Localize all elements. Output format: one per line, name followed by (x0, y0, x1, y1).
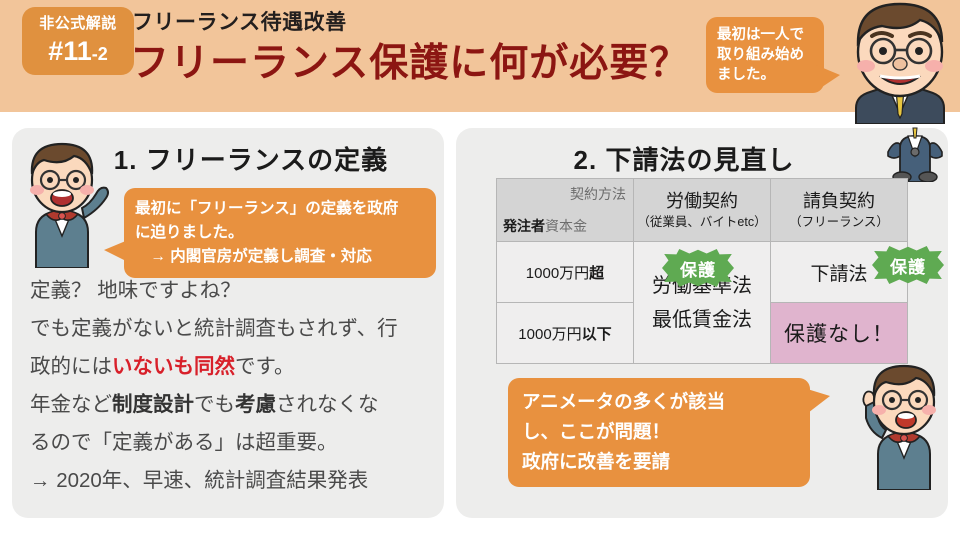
corner-label-top: 契約方法 (570, 184, 626, 204)
left-bubble-line-3: → 内閣官房が定義し調査・対応 (135, 245, 426, 269)
row-label-bold: 以下 (582, 326, 612, 343)
episode-badge-subtitle: 非公式解説 (22, 7, 134, 36)
presenter-face-icon (836, 0, 960, 124)
table-header-row: 契約方法 発注者資本金 労働契約 （従業員、バイトetc） 請負契約 （フリーラ… (497, 179, 908, 242)
corner-label-bottom: 発注者資本金 (503, 216, 587, 236)
row-label-over: 1000万円超 (497, 242, 634, 303)
header-bubble-line-2: 取り組み始め (717, 45, 814, 65)
body-line-4-bold-1: 制度設計 (112, 393, 194, 416)
left-panel-body: 定義？ 地味ですよね？ でも定義がないと統計調査もされず、行 政的にはいないも同… (30, 272, 430, 500)
body-line-4: 年金など制度設計でも考慮されなくな (30, 386, 430, 424)
table-col-header-contract: 請負契約 （フリーランス） (771, 179, 908, 242)
episode-number-main: #11 (48, 36, 92, 66)
row-label-bold: 超 (589, 265, 604, 282)
body-line-4-mid: でも (194, 393, 235, 416)
header-speech-bubble: 最初は一人で 取り組み始め ました。 (706, 17, 824, 93)
body-line-4-pre: 年金など (30, 393, 112, 416)
table-corner-cell: 契約方法 発注者資本金 (497, 179, 634, 242)
labor-law-line-2: 最低賃金法 (634, 303, 770, 337)
body-line-1: 定義？ 地味ですよね？ (30, 272, 430, 310)
table-col-header-employment: 労働契約 （従業員、バイトetc） (634, 179, 771, 242)
col-header-main: 労働契約 (634, 189, 770, 213)
protection-badge-2: 保護 (872, 246, 944, 284)
page-title: フリーランス保護に何が必要？ (130, 32, 689, 88)
presenter-small-icon (884, 122, 946, 182)
right-bubble-line-2: し、ここが問題！ (522, 417, 798, 447)
row-label-text: 1000万円 (518, 326, 581, 343)
cell-no-protection: 保護なし！ (771, 303, 908, 364)
header-band: 非公式解説 #11-2 フリーランス待遇改善 フリーランス保護に何が必要？ 最初… (0, 0, 960, 112)
header-bubble-line-1: 最初は一人で (717, 25, 814, 45)
body-line-4-post: されなくな (276, 393, 379, 416)
body-line-3-pre: 政的には (30, 355, 112, 378)
body-line-2: でも定義がないと統計調査もされず、行 (30, 310, 430, 348)
col-header-sub: （フリーランス） (771, 213, 907, 231)
col-header-main: 請負契約 (771, 189, 907, 213)
body-line-5: るので「定義がある」は超重要。 (30, 424, 430, 462)
right-speech-bubble: アニメータの多くが該当 し、ここが問題！ 政府に改善を要請 (508, 378, 810, 487)
bubble-tail (104, 240, 128, 262)
body-line-4-bold-2: 考慮 (235, 393, 276, 416)
episode-badge: 非公式解説 #11-2 (22, 7, 134, 75)
corner-label-bold: 発注者 (503, 218, 545, 234)
bubble-tail (804, 388, 830, 416)
presenter-pointing-up-icon (848, 362, 952, 490)
body-line-3: 政的にはいないも同然です。 (30, 348, 430, 386)
right-bubble-line-3: 政府に改善を要請 (522, 447, 798, 477)
right-bubble-line-1: アニメータの多くが該当 (522, 387, 798, 417)
body-line-3-highlight: いないも同然 (112, 355, 235, 378)
left-bubble-line-2: に迫りました。 (135, 221, 426, 245)
left-speech-bubble: 最初に「フリーランス」の定義を政府 に迫りました。 → 内閣官房が定義し調査・対… (124, 188, 436, 278)
left-bubble-line-1: 最初に「フリーランス」の定義を政府 (135, 197, 426, 221)
protection-badge-1: 保護 (662, 249, 734, 287)
col-header-sub: （従業員、バイトetc） (634, 213, 770, 231)
presenter-pointing-left-icon (6, 140, 114, 268)
row-label-text: 1000万円 (526, 265, 589, 282)
body-line-3-post: です。 (235, 355, 294, 378)
slide-root: 非公式解説 #11-2 フリーランス待遇改善 フリーランス保護に何が必要？ 最初… (0, 0, 960, 540)
episode-badge-number: #11-2 (22, 36, 134, 69)
corner-label-rest: 資本金 (545, 218, 587, 234)
right-panel-title: 2. 下請法の見直し (456, 140, 948, 177)
row-label-under: 1000万円以下 (497, 303, 634, 364)
body-line-6: → 2020年、早速、統計調査結果発表 (30, 462, 430, 500)
episode-number-suffix: -2 (92, 44, 108, 64)
header-bubble-line-3: ました。 (717, 65, 814, 85)
